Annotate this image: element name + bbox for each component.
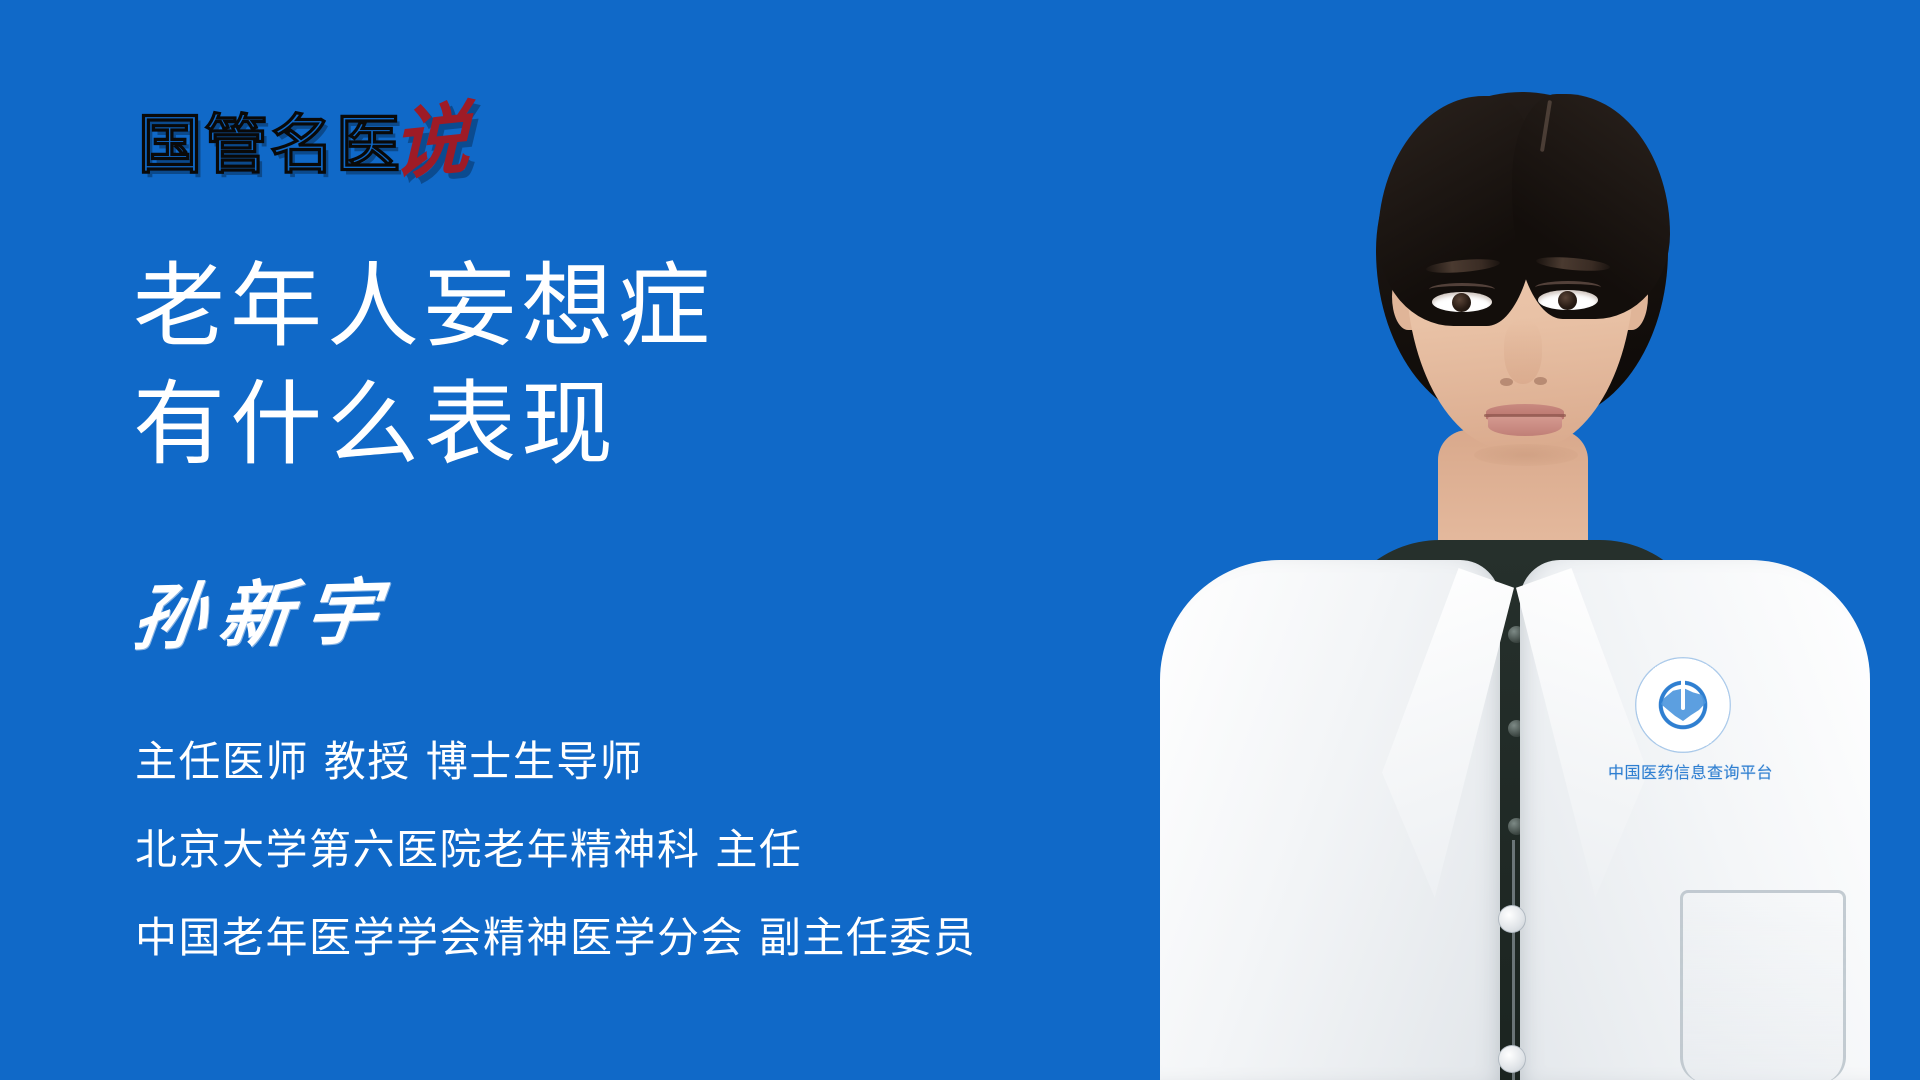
coat-badge: 中国医药信息查询平台 CHINA MEDICAL INFORMATION PLA…: [1608, 658, 1758, 783]
doctor-portrait: 中国医药信息查询平台 CHINA MEDICAL INFORMATION PLA…: [1120, 0, 1920, 1080]
laurel-right-icon: [1684, 710, 1715, 739]
coat-badge-emblem-bottom-text: CHINA MEDICAL INFORMATION PLATFORM: [1636, 742, 1730, 748]
credential-line-1: 主任医师 教授 博士生导师: [135, 718, 1195, 806]
program-logo: 国管名医 说: [138, 96, 470, 180]
lab-coat-button-1: [1498, 905, 1526, 933]
nose: [1504, 320, 1542, 384]
lab-coat-button-2: [1498, 1045, 1526, 1073]
doctor-name: 孙新宇: [128, 568, 397, 661]
eyelid-left: [1429, 283, 1495, 296]
mouth-line: [1484, 414, 1566, 417]
laurel-left-icon: [1654, 710, 1685, 739]
credential-line-3: 中国老年医学学会精神医学分会 副主任委员: [135, 894, 1195, 982]
coat-badge-emblem-icon: 中国医药信息查询平台 CHINA MEDICAL INFORMATION PLA…: [1636, 658, 1730, 752]
nostril-right: [1534, 377, 1547, 385]
credential-line-2: 北京大学第六医院老年精神科 主任: [135, 806, 1195, 894]
program-logo-main-text: 国管名医: [138, 114, 402, 180]
title-line-2: 有什么表现: [133, 366, 1073, 484]
doctor-credentials: 主任医师 教授 博士生导师 北京大学第六医院老年精神科 主任 中国老年医学学会精…: [135, 718, 1195, 982]
coat-badge-caption: 中国医药信息查询平台: [1608, 759, 1758, 783]
page-title: 老年人妄想症 有什么表现: [133, 248, 1073, 484]
video-cover-slide: 国管名医 说 老年人妄想症 有什么表现 孙新宇 主任医师 教授 博士生导师 北京…: [0, 0, 1920, 1080]
caduceus-rod-icon: [1681, 676, 1685, 710]
lab-coat-pocket: [1680, 890, 1846, 1080]
eyelid-right: [1535, 281, 1601, 294]
coat-badge-emblem-top-text: 中国医药信息查询平台: [1636, 662, 1730, 671]
nostril-left: [1500, 378, 1513, 386]
title-line-1: 老年人妄想症: [133, 248, 1073, 366]
chin-shadow: [1474, 444, 1578, 466]
program-logo-accent-text: 说: [392, 99, 470, 186]
lower-lip: [1488, 416, 1562, 436]
lab-coat-seam: [1512, 840, 1515, 1080]
